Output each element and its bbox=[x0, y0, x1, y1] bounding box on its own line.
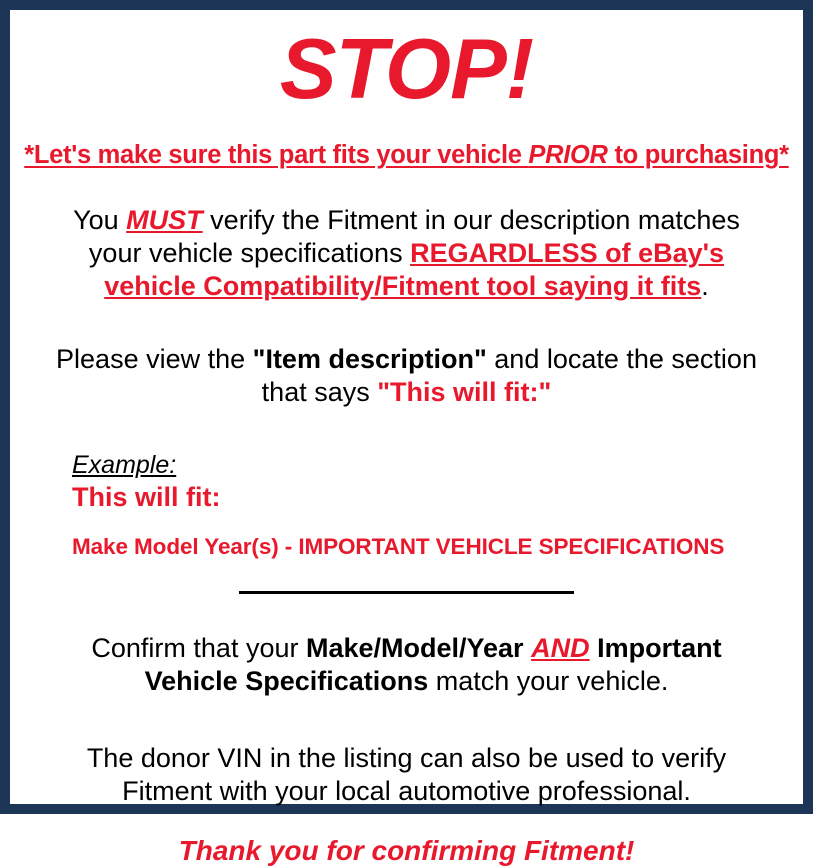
and-emphasis: AND bbox=[531, 633, 590, 663]
confirm-part-1: Confirm that your bbox=[91, 633, 306, 663]
donor-vin-paragraph: The donor VIN in the listing can also be… bbox=[24, 742, 789, 808]
example-spec-line: Make Model Year(s) - IMPORTANT VEHICLE S… bbox=[72, 533, 789, 560]
must-part-1: You bbox=[73, 205, 126, 235]
confirm-part-3 bbox=[590, 633, 598, 663]
subtitle-emphasis-prior: PRIOR bbox=[528, 141, 607, 169]
stop-headline: STOP! bbox=[24, 22, 789, 118]
fitment-notice-frame: STOP! *Let's make sure this part fits yo… bbox=[0, 0, 813, 814]
view-description-paragraph: Please view the "Item description" and l… bbox=[24, 343, 789, 409]
must-verify-paragraph: You MUST verify the Fitment in our descr… bbox=[24, 204, 789, 303]
thank-you-line: Thank you for confirming Fitment! bbox=[24, 834, 789, 868]
make-model-year-emphasis: Make/Model/Year bbox=[306, 633, 524, 663]
divider-wrapper bbox=[24, 584, 789, 602]
must-emphasis: MUST bbox=[126, 205, 203, 235]
example-fit-header: This will fit: bbox=[72, 481, 789, 513]
subtitle-part-1: *Let's make sure this part fits your veh… bbox=[24, 141, 528, 169]
this-will-fit-emphasis: "This will fit:" bbox=[377, 377, 551, 407]
subtitle-part-2: to purchasing* bbox=[608, 141, 789, 169]
confirm-part-4: match your vehicle. bbox=[428, 666, 668, 696]
subtitle-banner: *Let's make sure this part fits your veh… bbox=[24, 140, 789, 170]
view-part-1: Please view the bbox=[56, 344, 253, 374]
notice-content: STOP! *Let's make sure this part fits yo… bbox=[10, 10, 803, 804]
example-label: Example: bbox=[72, 451, 176, 480]
example-label-row: Example: bbox=[72, 451, 789, 480]
confirm-part-2 bbox=[524, 633, 532, 663]
item-description-emphasis: "Item description" bbox=[253, 344, 487, 374]
example-block: Example: This will fit: Make Model Year(… bbox=[24, 451, 789, 560]
confirm-paragraph: Confirm that your Make/Model/Year AND Im… bbox=[24, 632, 789, 698]
must-part-3: . bbox=[701, 271, 709, 301]
section-divider bbox=[239, 591, 574, 594]
